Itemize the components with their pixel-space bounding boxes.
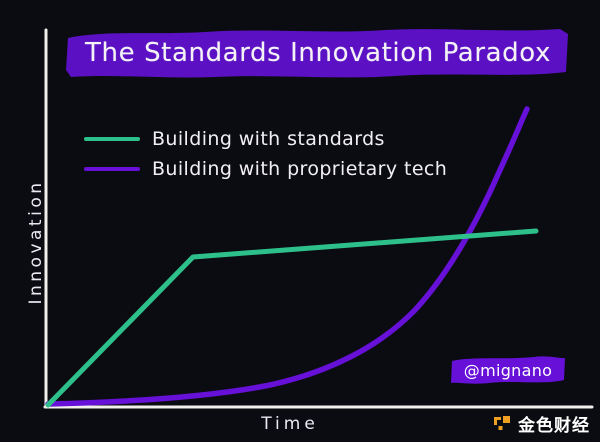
chart-canvas: The Standards Innovation Paradox Innovat…	[0, 0, 600, 442]
legend-swatch-purple-icon	[84, 167, 140, 171]
watermark-text: 金色财经	[518, 411, 590, 436]
attribution-badge: @mignano	[449, 354, 567, 386]
legend-label-standards: Building with standards	[152, 128, 385, 150]
y-axis-label: Innovation	[26, 162, 46, 322]
x-axis-label: Time	[190, 414, 390, 434]
watermark: 金色财经	[492, 411, 590, 436]
legend: Building with standards Building with pr…	[84, 124, 447, 184]
orange-square-logo-icon	[492, 414, 512, 434]
page-title: The Standards Innovation Paradox	[65, 26, 571, 80]
title-banner: The Standards Innovation Paradox	[65, 26, 571, 80]
legend-item-proprietary-tech[interactable]: Building with proprietary tech	[84, 154, 447, 184]
legend-swatch-green-icon	[84, 137, 140, 141]
attribution-handle: @mignano	[449, 354, 567, 386]
legend-label-proprietary-tech: Building with proprietary tech	[152, 158, 447, 180]
legend-item-standards[interactable]: Building with standards	[84, 124, 447, 154]
